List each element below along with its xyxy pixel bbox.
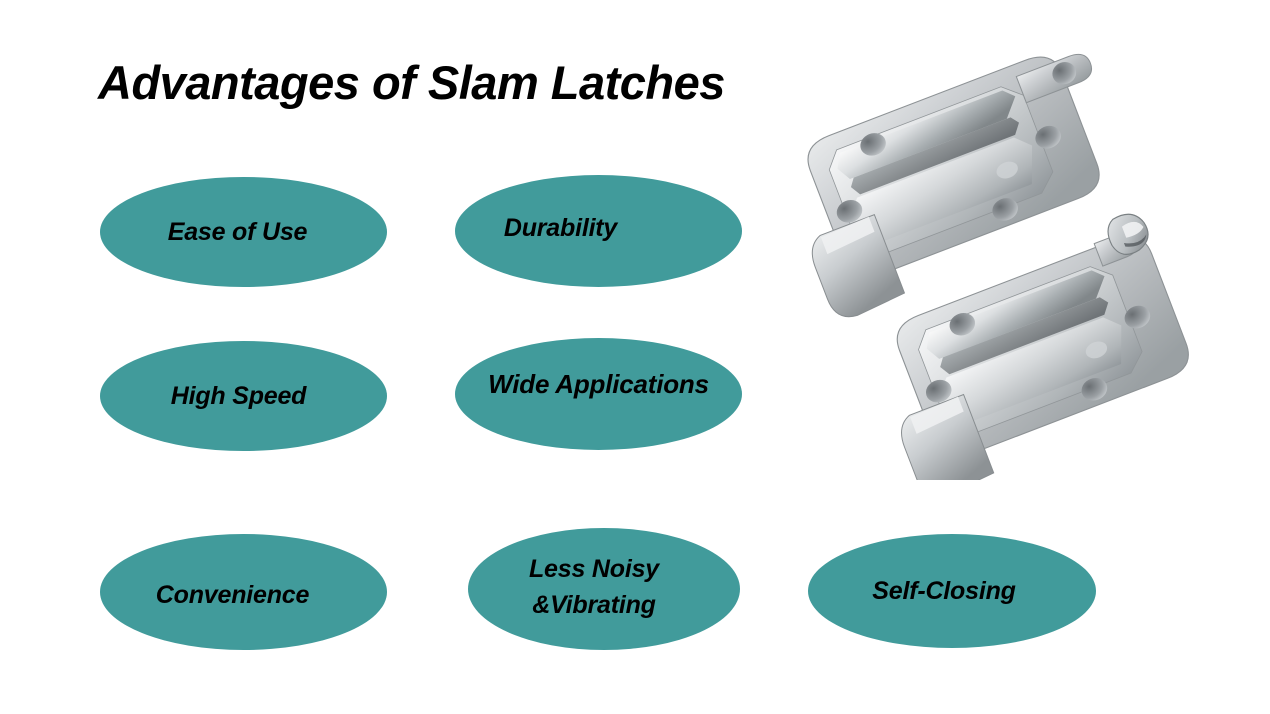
advantage-label-line-2: &Vibrating: [532, 591, 655, 619]
slam-latch-illustration: [790, 18, 1210, 480]
advantage-label-less-noisy-vibrating: Less Noisy &Vibrating: [529, 551, 659, 624]
advantage-label-high-speed: High Speed: [171, 378, 307, 414]
advantage-bubble-durability[interactable]: Durability: [455, 175, 742, 287]
advantage-label-wide-applications: Wide Applications: [488, 366, 709, 404]
advantage-bubble-self-closing[interactable]: Self-Closing: [808, 534, 1096, 648]
advantage-bubble-convenience[interactable]: Convenience: [100, 534, 387, 650]
advantage-label-line-1: Less Noisy: [529, 555, 659, 583]
advantage-bubble-wide-applications[interactable]: Wide Applications: [455, 338, 742, 450]
advantage-bubble-high-speed[interactable]: High Speed: [100, 341, 387, 451]
advantage-label-convenience: Convenience: [156, 577, 309, 613]
advantage-bubble-ease-of-use[interactable]: Ease of Use: [100, 177, 387, 287]
advantage-bubble-less-noisy-vibrating[interactable]: Less Noisy &Vibrating: [468, 528, 740, 650]
advantage-label-ease-of-use: Ease of Use: [168, 214, 308, 250]
advantage-label-durability: Durability: [504, 210, 617, 246]
slide-canvas: Advantages of Slam Latches Ease of Use D…: [0, 0, 1270, 714]
advantage-label-self-closing: Self-Closing: [872, 573, 1015, 609]
slam-latch-product-image: [790, 18, 1210, 480]
page-title: Advantages of Slam Latches: [98, 58, 725, 107]
